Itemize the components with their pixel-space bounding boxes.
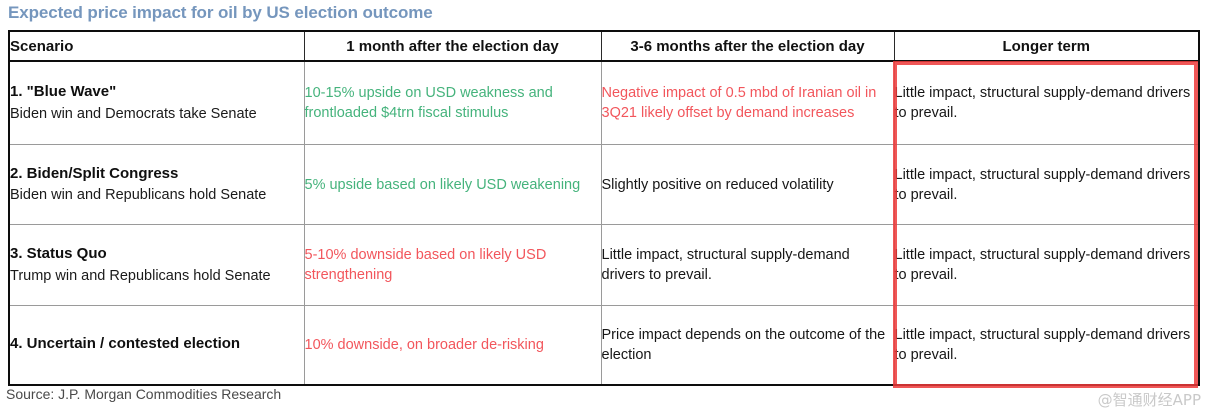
- column-header-one-month: 1 month after the election day: [304, 31, 601, 61]
- scenario-subtitle: Biden win and Republicans hold Senate: [10, 185, 304, 205]
- three-six-cell: Negative impact of 0.5 mbd of Iranian oi…: [601, 61, 894, 145]
- scenario-cell: 4. Uncertain / contested election: [9, 306, 304, 386]
- scenario-cell: 2. Biden/Split Congress Biden win and Re…: [9, 145, 304, 225]
- one-month-cell: 5% upside based on likely USD weakening: [304, 145, 601, 225]
- column-header-scenario: Scenario: [9, 31, 304, 61]
- one-month-cell: 5-10% downside based on likely USD stren…: [304, 225, 601, 306]
- table-header-row: Scenario 1 month after the election day …: [9, 31, 1199, 61]
- three-six-cell: Little impact, structural supply-demand …: [601, 225, 894, 306]
- table-row: 2. Biden/Split Congress Biden win and Re…: [9, 145, 1199, 225]
- scenario-cell: 1. "Blue Wave" Biden win and Democrats t…: [9, 61, 304, 145]
- table-row: 3. Status Quo Trump win and Republicans …: [9, 225, 1199, 306]
- scenario-table-wrapper: Scenario 1 month after the election day …: [8, 30, 1198, 379]
- table-row: 4. Uncertain / contested election 10% do…: [9, 306, 1199, 386]
- one-month-cell: 10% downside, on broader de-risking: [304, 306, 601, 386]
- scenario-title: 2. Biden/Split Congress: [10, 164, 304, 185]
- column-header-longer-term: Longer term: [894, 31, 1199, 61]
- longer-term-cell: Little impact, structural supply-demand …: [894, 306, 1199, 386]
- three-six-cell: Slightly positive on reduced volatility: [601, 145, 894, 225]
- watermark: @智通财经APP: [1098, 389, 1201, 410]
- one-month-cell: 10-15% upside on USD weakness and frontl…: [304, 61, 601, 145]
- table-row: 1. "Blue Wave" Biden win and Democrats t…: [9, 61, 1199, 145]
- scenario-table: Scenario 1 month after the election day …: [8, 30, 1200, 386]
- longer-term-cell: Little impact, structural supply-demand …: [894, 61, 1199, 145]
- figure-container: Expected price impact for oil by US elec…: [0, 0, 1213, 416]
- source-note: Source: J.P. Morgan Commodities Research: [6, 386, 281, 402]
- scenario-title: 4. Uncertain / contested election: [10, 334, 304, 355]
- scenario-cell: 3. Status Quo Trump win and Republicans …: [9, 225, 304, 306]
- longer-term-cell: Little impact, structural supply-demand …: [894, 225, 1199, 306]
- scenario-subtitle: Trump win and Republicans hold Senate: [10, 266, 304, 286]
- scenario-title: 3. Status Quo: [10, 244, 304, 265]
- column-header-three-six: 3-6 months after the election day: [601, 31, 894, 61]
- three-six-cell: Price impact depends on the outcome of t…: [601, 306, 894, 386]
- figure-title: Expected price impact for oil by US elec…: [8, 3, 433, 23]
- scenario-subtitle: Biden win and Democrats take Senate: [10, 104, 304, 124]
- longer-term-cell: Little impact, structural supply-demand …: [894, 145, 1199, 225]
- scenario-title: 1. "Blue Wave": [10, 82, 304, 103]
